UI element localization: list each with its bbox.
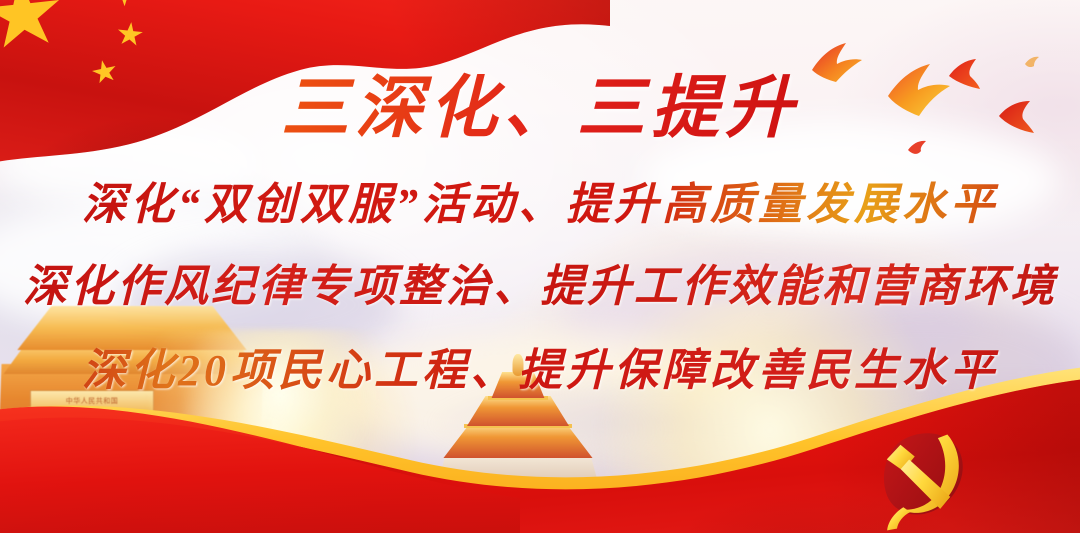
page-title: 三深化、三提升 (0, 52, 1080, 151)
temple-tier-lower (437, 424, 599, 458)
slogan-line-1: 深化“双创双服”活动、提升高质量发展水平 (0, 168, 1080, 232)
slogan-line-3: 深化20项民心工程、提升保障改善民生水平 (0, 334, 1080, 398)
poster-banner: 中华人民共和国 (0, 0, 1080, 533)
cpc-hammer-sickle-emblem (845, 410, 992, 533)
temple-tier-middle (460, 396, 576, 426)
slogan-line-2: 深化作风纪律专项整治、提升工作效能和营商环境 (0, 250, 1080, 314)
